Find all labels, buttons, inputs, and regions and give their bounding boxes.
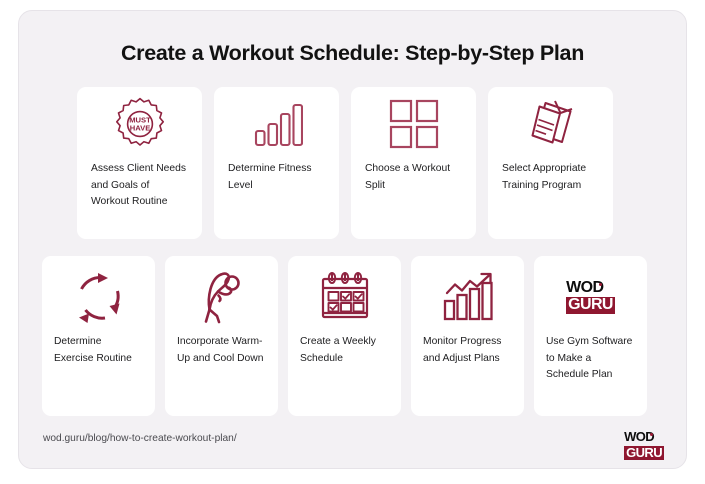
badge-text-line2: HAVE [129,124,150,133]
step-card-assess-client-needs[interactable]: MUST HAVE Assess Client Needs and Goals … [77,87,202,239]
step-card-label: Determine Exercise Routine [42,330,155,367]
infographic-panel: Create a Workout Schedule: Step-by-Step … [18,10,687,469]
calendar-checkmarks-icon [288,256,401,330]
step-card-determine-exercise-routine[interactable]: Determine Exercise Routine [42,256,155,416]
footer-logo-dot [650,433,653,436]
wodguru-logo-top: WOD [566,280,603,296]
steps-row-second: Determine Exercise Routine Incorporate [42,256,657,416]
page-title: Create a Workout Schedule: Step-by-Step … [19,41,686,66]
step-card-label: Incorporate Warm-Up and Cool Down [165,330,278,367]
bar-chart-ascending-icon [214,87,339,155]
step-card-create-weekly-schedule[interactable]: Create a Weekly Schedule [288,256,401,416]
step-card-choose-workout-split[interactable]: Choose a Workout Split [351,87,476,239]
footer-logo-top: WOD [624,430,654,443]
wodguru-logo-icon: WOD GURU [534,256,647,330]
step-card-use-gym-software[interactable]: WOD GURU Use Gym Software to Make a Sche… [534,256,647,416]
step-card-label: Assess Client Needs and Goals of Workout… [77,155,202,211]
documents-stack-icon [488,87,613,155]
footer-url[interactable]: wod.guru/blog/how-to-create-workout-plan… [43,433,237,444]
footer-wodguru-logo: WOD GURU [624,429,664,462]
step-card-monitor-progress[interactable]: Monitor Progress and Adjust Plans [411,256,524,416]
step-card-label: Use Gym Software to Make a Schedule Plan [534,330,647,384]
growth-chart-arrow-icon [411,256,524,330]
circular-arrows-icon [42,256,155,330]
must-have-badge-icon: MUST HAVE [77,87,202,155]
stretching-person-icon [165,256,278,330]
step-card-label: Monitor Progress and Adjust Plans [411,330,524,367]
steps-row-first: MUST HAVE Assess Client Needs and Goals … [77,87,625,239]
wodguru-logo-dot [599,283,602,286]
step-card-label: Select Appropriate Training Program [488,155,613,194]
step-card-label: Choose a Workout Split [351,155,476,194]
step-card-label: Create a Weekly Schedule [288,330,401,367]
footer: wod.guru/blog/how-to-create-workout-plan… [19,429,686,455]
footer-logo-bottom: GURU [624,446,664,460]
step-card-label: Determine Fitness Level [214,155,339,194]
four-square-grid-icon [351,87,476,155]
step-card-determine-fitness-level[interactable]: Determine Fitness Level [214,87,339,239]
step-card-incorporate-warmup-cooldown[interactable]: Incorporate Warm-Up and Cool Down [165,256,278,416]
wodguru-logo-bottom: GURU [566,297,615,314]
step-card-select-training-program[interactable]: Select Appropriate Training Program [488,87,613,239]
